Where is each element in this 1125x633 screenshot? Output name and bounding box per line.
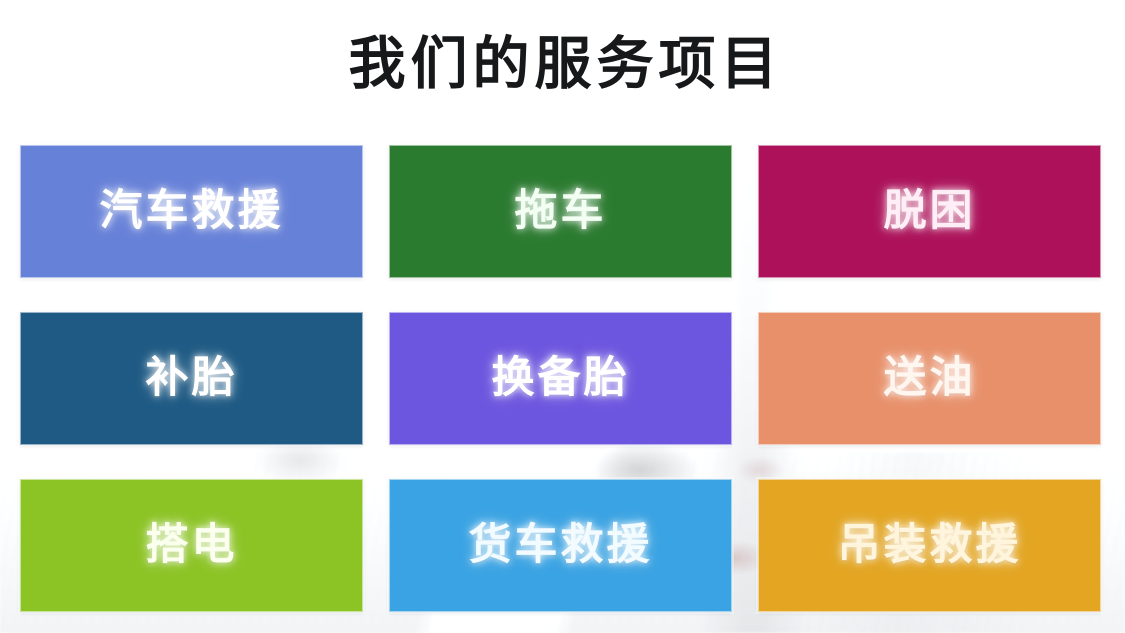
service-items-poster: 我们的服务项目 汽车救援 拖车 脱困 补胎 换备胎 送油 搭电 货车救援 吊装救… — [0, 0, 1125, 633]
service-tile-jump-start[interactable]: 搭电 — [20, 479, 363, 612]
service-tile-label: 搭电 — [146, 524, 238, 567]
service-tile-label: 补胎 — [146, 357, 238, 400]
service-tile-label: 拖车 — [515, 190, 607, 233]
service-tile-label: 吊装救援 — [838, 524, 1022, 567]
service-tile-crane-lifting-rescue[interactable]: 吊装救援 — [758, 479, 1101, 612]
service-tile-label: 换备胎 — [492, 357, 630, 400]
service-tile-tire-repair[interactable]: 补胎 — [20, 312, 363, 445]
service-tile-label: 货车救援 — [469, 524, 653, 567]
service-tile-truck-rescue[interactable]: 货车救援 — [389, 479, 732, 612]
service-tile-grid: 汽车救援 拖车 脱困 补胎 换备胎 送油 搭电 货车救援 吊装救援 — [20, 145, 1101, 612]
title-band: 我们的服务项目 — [0, 0, 1125, 122]
service-tile-extrication[interactable]: 脱困 — [758, 145, 1101, 278]
service-tile-roadside-assistance[interactable]: 汽车救援 — [20, 145, 363, 278]
page-title: 我们的服务项目 — [343, 36, 783, 93]
service-tile-towing[interactable]: 拖车 — [389, 145, 732, 278]
service-tile-label: 汽车救援 — [100, 190, 284, 233]
service-tile-spare-tire-change[interactable]: 换备胎 — [389, 312, 732, 445]
service-tile-label: 脱困 — [884, 190, 976, 233]
service-tile-label: 送油 — [884, 357, 976, 400]
service-tile-fuel-delivery[interactable]: 送油 — [758, 312, 1101, 445]
